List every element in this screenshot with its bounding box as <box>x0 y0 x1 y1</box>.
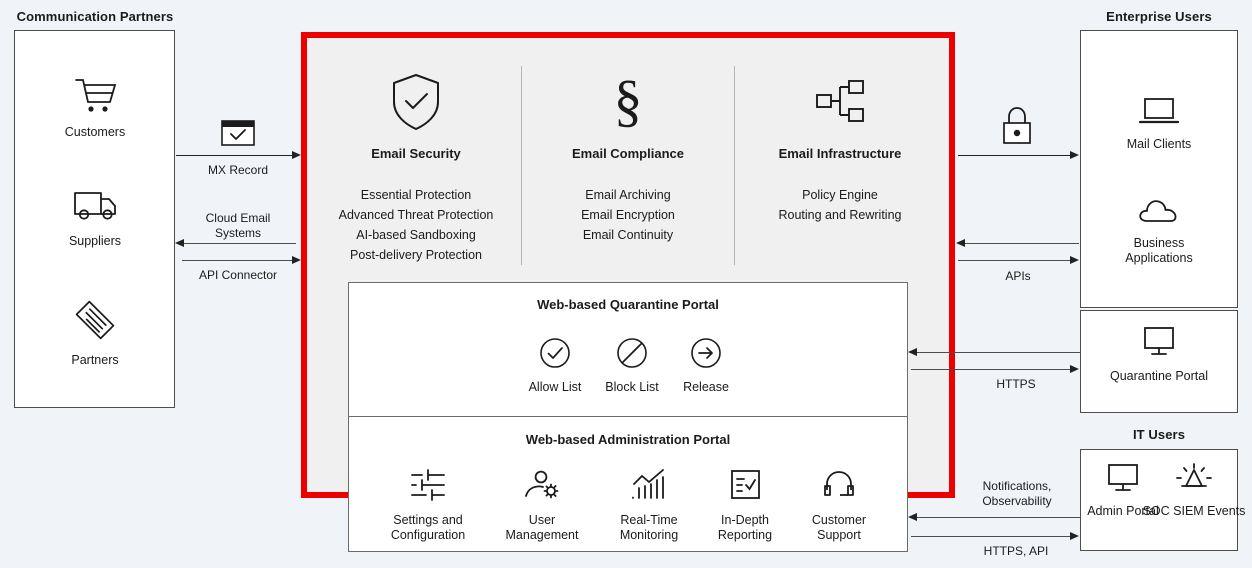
pillar-feature-list: Policy Engine Routing and Rewriting <box>740 185 940 225</box>
feature-release[interactable]: Release <box>656 337 756 395</box>
svg-text:§: § <box>614 72 643 132</box>
node-soc-siem-events: SOC SIEM Events <box>1134 462 1252 519</box>
pillar-title: Email Security <box>316 146 516 161</box>
pillar-email-infrastructure: Email Infrastructure Policy Engine Routi… <box>740 72 940 225</box>
pillar-feature: Routing and Rewriting <box>740 205 940 225</box>
user-gear-icon <box>492 468 592 507</box>
pillar-feature: Advanced Threat Protection <box>316 205 516 225</box>
quarantine-portal-title: Web-based Quarantine Portal <box>348 297 908 312</box>
feature-label: In-Depth Reporting <box>695 513 795 543</box>
sliders-icon <box>378 468 478 507</box>
feature-in-depth-reporting[interactable]: In-Depth Reporting <box>695 468 795 543</box>
truck-icon <box>35 188 155 229</box>
node-label: Business Applications <box>1099 236 1219 265</box>
certificate-check-icon <box>221 120 255 151</box>
shopping-cart-icon <box>35 75 155 120</box>
node-label: Mail Clients <box>1099 137 1219 152</box>
communication-partners-title: Communication Partners <box>14 9 176 24</box>
handshake-icon <box>35 297 155 348</box>
it-users-title: IT Users <box>1080 427 1238 442</box>
pillar-feature: Policy Engine <box>740 185 940 205</box>
pillar-email-compliance: § Email Compliance Email Archiving Email… <box>528 72 728 245</box>
feature-label: User Management <box>492 513 592 543</box>
pillar-feature-list: Email Archiving Email Encryption Email C… <box>528 185 728 245</box>
feature-label: Customer Support <box>789 513 889 543</box>
node-label: SOC SIEM Events <box>1134 504 1252 519</box>
enterprise-users-title: Enterprise Users <box>1080 9 1238 24</box>
node-quarantine-portal: Quarantine Portal <box>1099 325 1219 384</box>
laptop-icon <box>1099 95 1219 132</box>
enterprise-users-box <box>1080 30 1238 308</box>
feature-label: Real-Time Monitoring <box>599 513 699 543</box>
node-business-applications: Business Applications <box>1099 196 1219 265</box>
headset-icon <box>789 468 889 507</box>
pillar-feature: Email Encryption <box>528 205 728 225</box>
node-partners: Partners <box>35 297 155 368</box>
circle-arrow-right-icon <box>656 337 756 374</box>
pillar-feature-list: Essential Protection Advanced Threat Pro… <box>316 185 516 265</box>
flow-label-text: Cloud Email Systems <box>206 211 271 240</box>
alarm-siren-icon <box>1134 462 1252 499</box>
node-suppliers: Suppliers <box>35 188 155 249</box>
node-customers: Customers <box>35 75 155 140</box>
feature-label: Settings and Configuration <box>378 513 478 543</box>
cloud-icon <box>1099 196 1219 231</box>
flow-label-https: HTTPS <box>966 377 1066 392</box>
portal-divider <box>349 416 907 417</box>
pillar-title: Email Infrastructure <box>740 146 940 161</box>
pillar-divider-1 <box>521 66 522 265</box>
monitor-icon <box>1099 325 1219 364</box>
flow-label-https-api: HTTPS, API <box>966 544 1066 559</box>
node-mail-clients: Mail Clients <box>1099 95 1219 152</box>
feature-customer-support[interactable]: Customer Support <box>789 468 889 543</box>
flow-label-cloud-email-systems: Cloud Email Systems <box>194 211 282 240</box>
administration-portal-title: Web-based Administration Portal <box>348 432 908 447</box>
bar-chart-trend-icon <box>599 468 699 507</box>
pillar-feature: Email Archiving <box>528 185 728 205</box>
pillar-email-security: Email Security Essential Protection Adva… <box>316 72 516 265</box>
flow-label-text: Notifications, Observability <box>982 479 1051 508</box>
pillar-feature: Email Continuity <box>528 225 728 245</box>
feature-real-time-monitoring[interactable]: Real-Time Monitoring <box>599 468 699 543</box>
node-label: Customers <box>35 125 155 140</box>
section-sign-icon: § <box>528 72 728 137</box>
feature-settings-and-configuration[interactable]: Settings and Configuration <box>378 468 478 543</box>
pillar-feature: Essential Protection <box>316 185 516 205</box>
flow-label-notifications-observability: Notifications, Observability <box>961 479 1073 508</box>
node-label: Quarantine Portal <box>1099 369 1219 384</box>
node-label: Suppliers <box>35 234 155 249</box>
pillar-feature: AI-based Sandboxing <box>316 225 516 245</box>
feature-label: Release <box>656 380 756 395</box>
pillar-title: Email Compliance <box>528 146 728 161</box>
pillar-feature: Post-delivery Protection <box>316 245 516 265</box>
pillar-divider-2 <box>734 66 735 265</box>
shield-check-icon <box>316 72 516 137</box>
padlock-icon <box>1000 105 1034 152</box>
feature-user-management[interactable]: User Management <box>492 468 592 543</box>
report-check-icon <box>695 468 795 507</box>
flow-label-apis: APIs <box>968 269 1068 284</box>
node-label: Partners <box>35 353 155 368</box>
flow-label-mx-record: MX Record <box>188 163 288 178</box>
hierarchy-icon <box>740 72 940 137</box>
flow-label-api-connector: API Connector <box>188 268 288 283</box>
